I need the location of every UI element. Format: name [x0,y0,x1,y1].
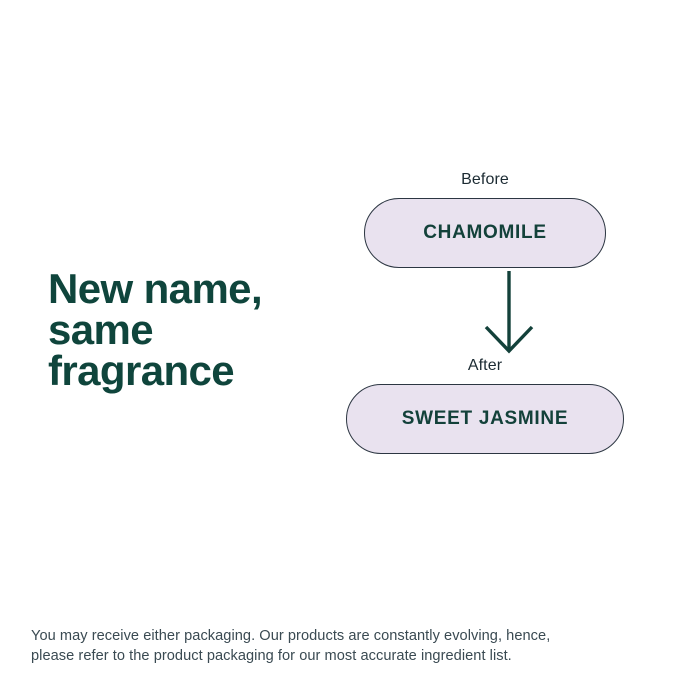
after-label: After [330,356,640,376]
arrow-container [354,270,664,356]
after-pill: SWEET JASMINE [346,384,624,454]
after-product-name: SWEET JASMINE [402,408,568,430]
before-product-name: CHAMOMILE [423,222,546,244]
packaging-disclaimer: You may receive either packaging. Our pr… [31,626,631,666]
rename-flow-diagram: Before CHAMOMILE After SWEET JASMINE [330,170,640,490]
product-rename-graphic: New name, same fragrance Before CHAMOMIL… [0,0,679,679]
before-pill: CHAMOMILE [364,198,606,268]
before-label: Before [330,170,640,190]
arrow-down-icon [483,271,535,355]
page-title: New name, same fragrance [48,268,338,391]
